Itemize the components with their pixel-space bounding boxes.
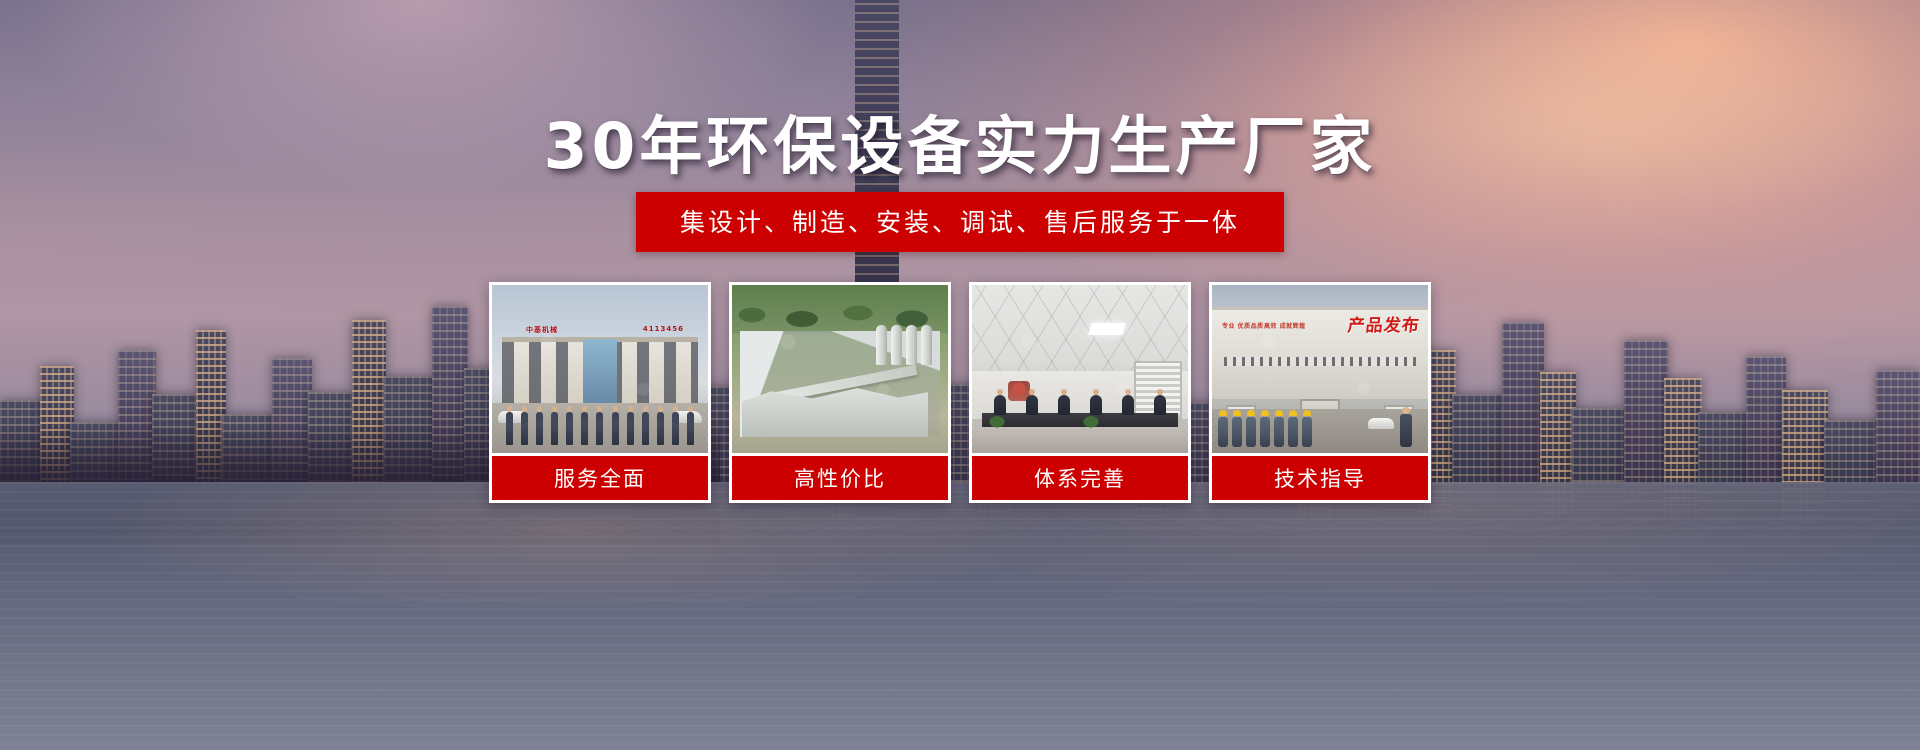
- aerial-factory-plant-photo: [732, 285, 948, 453]
- subtitle-banner-wrap: 集设计、制造、安装、调试、售后服务于一体: [0, 192, 1920, 252]
- company-office-building-photo: 中基机械 4113456: [492, 285, 708, 453]
- hero-banner: 30年环保设备实力生产厂家 集设计、制造、安装、调试、售后服务于一体 中基机械 …: [0, 0, 1920, 750]
- feature-card[interactable]: 高性价比: [729, 282, 951, 503]
- factory-slogan-2: 高效 成就辉煌: [1264, 323, 1306, 332]
- factory-sign-text: 产品发布: [1347, 311, 1422, 336]
- feature-card-list: 中基机械 4113456 服务全面: [0, 282, 1920, 503]
- factory-workers-photo: 产品发布 专业 优质品质 高效 成就辉煌: [1212, 285, 1428, 453]
- office-interior-team-photo: [972, 285, 1188, 453]
- water-reflection: [0, 482, 1920, 750]
- card-caption: 服务全面: [492, 456, 708, 500]
- card-caption: 高性价比: [732, 456, 948, 500]
- factory-slogan-1: 专业 优质品质: [1222, 323, 1264, 332]
- building-sign-text: 中基机械: [526, 325, 558, 335]
- feature-card[interactable]: 产品发布 专业 优质品质 高效 成就辉煌 技术指导: [1209, 282, 1431, 503]
- page-title: 30年环保设备实力生产厂家: [0, 96, 1920, 187]
- feature-card[interactable]: 中基机械 4113456 服务全面: [489, 282, 711, 503]
- building-phone-text: 4113456: [643, 325, 684, 333]
- card-caption: 体系完善: [972, 456, 1188, 500]
- subtitle-banner: 集设计、制造、安装、调试、售后服务于一体: [636, 192, 1284, 252]
- card-caption: 技术指导: [1212, 456, 1428, 500]
- feature-card[interactable]: 体系完善: [969, 282, 1191, 503]
